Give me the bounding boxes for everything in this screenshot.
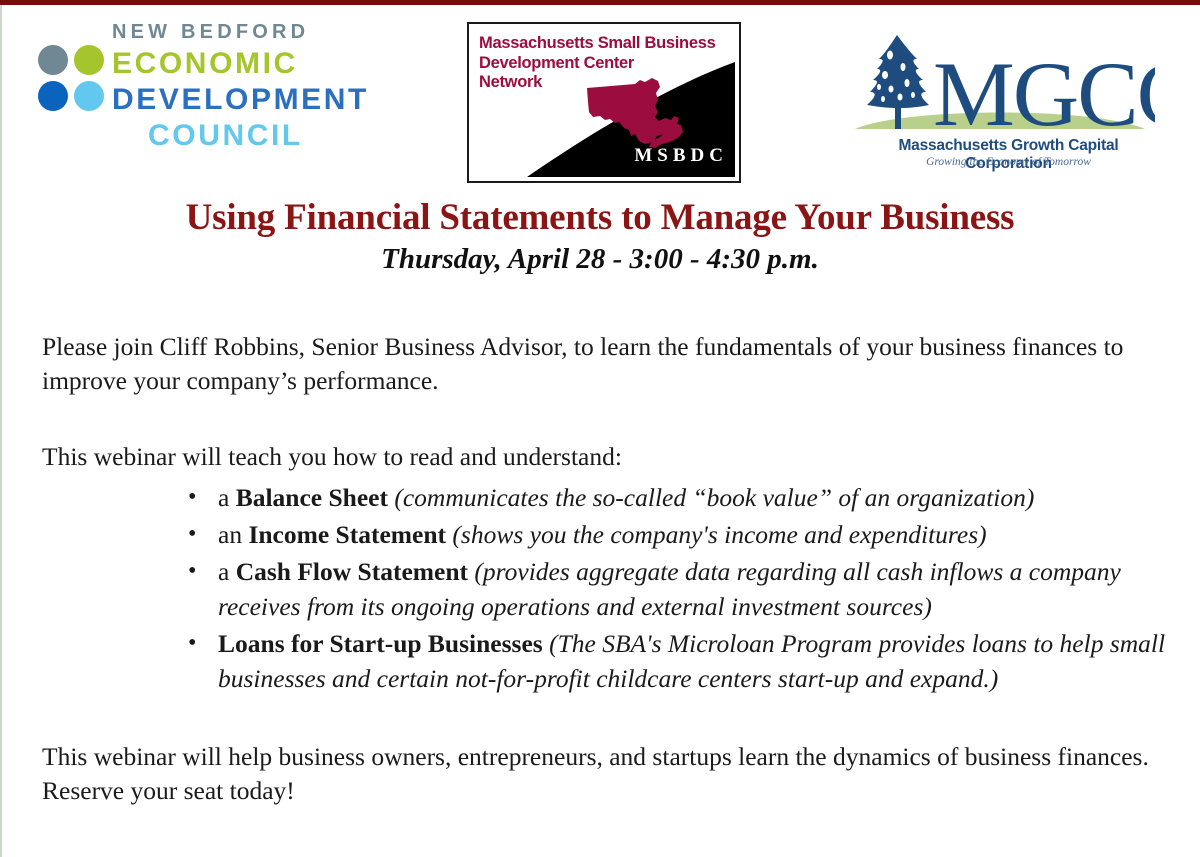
list-item: a Balance Sheet (communicates the so-cal…: [42, 480, 1167, 515]
bullet-description: (communicates the so-called “book value”…: [388, 483, 1034, 512]
mgcc-tagline: Growing the Economy of Tomorrow: [861, 156, 1156, 168]
nbedc-line-development: DEVELOPMENT: [112, 82, 369, 118]
dot-top-left-icon: [38, 45, 68, 75]
bullet-description: (shows you the company's income and expe…: [446, 520, 987, 549]
dot-bottom-right-icon: [74, 81, 104, 111]
list-item: an Income Statement (shows you the compa…: [42, 517, 1167, 552]
mgcc-logo-art: MGCC: [845, 25, 1155, 140]
dot-bottom-left-icon: [38, 81, 68, 111]
msbdc-logo: Massachusetts Small Business Development…: [467, 22, 741, 183]
closing-paragraph: This webinar will help business owners, …: [42, 740, 1152, 808]
tree-icon: [867, 35, 929, 129]
mgcc-acronym-text: MGCC: [933, 43, 1155, 140]
topics-list: a Balance Sheet (communicates the so-cal…: [42, 480, 1167, 696]
four-dots-icon: [38, 45, 106, 113]
bullet-term: Balance Sheet: [236, 483, 388, 512]
body-content: Please join Cliff Robbins, Senior Busine…: [42, 330, 1167, 808]
bullet-term: Income Statement: [248, 520, 446, 549]
mgcc-logo: MGCC Massachusetts Growth Capital Corpor…: [845, 25, 1155, 175]
bullet-term: Loans for Start-up Businesses: [218, 629, 543, 658]
dot-top-right-icon: [74, 45, 104, 75]
intro-paragraph: Please join Cliff Robbins, Senior Busine…: [42, 330, 1127, 398]
page-subtitle: Thursday, April 28 - 3:00 - 4:30 p.m.: [0, 243, 1200, 276]
spacer: [42, 698, 1167, 740]
flyer-page: NEW BEDFORD ECONOMIC DEVELOPMENT COUNCIL…: [0, 0, 1200, 857]
bullet-prefix: a: [218, 557, 236, 586]
list-item: Loans for Start-up Businesses (The SBA's…: [42, 626, 1167, 696]
nbedc-line-new-bedford: NEW BEDFORD: [112, 19, 369, 45]
lead-in-paragraph: This webinar will teach you how to read …: [42, 440, 1167, 474]
msbdc-abbreviation: MSBDC: [634, 145, 728, 167]
spacer: [42, 398, 1167, 440]
bullet-prefix: an: [218, 520, 248, 549]
page-title: Using Financial Statements to Manage You…: [0, 196, 1200, 239]
nbedc-wordmark: NEW BEDFORD ECONOMIC DEVELOPMENT COUNCIL: [112, 19, 369, 154]
msbdc-title: Massachusetts Small Business Development…: [479, 34, 715, 93]
list-item: a Cash Flow Statement (provides aggregat…: [42, 554, 1167, 624]
bullet-term: Cash Flow Statement: [236, 557, 468, 586]
logo-header-row: NEW BEDFORD ECONOMIC DEVELOPMENT COUNCIL…: [0, 5, 1200, 190]
new-bedford-edc-logo: NEW BEDFORD ECONOMIC DEVELOPMENT COUNCIL: [34, 19, 434, 169]
bullet-prefix: a: [218, 483, 236, 512]
nbedc-line-economic: ECONOMIC: [112, 46, 369, 82]
nbedc-line-council: COUNCIL: [148, 118, 369, 154]
